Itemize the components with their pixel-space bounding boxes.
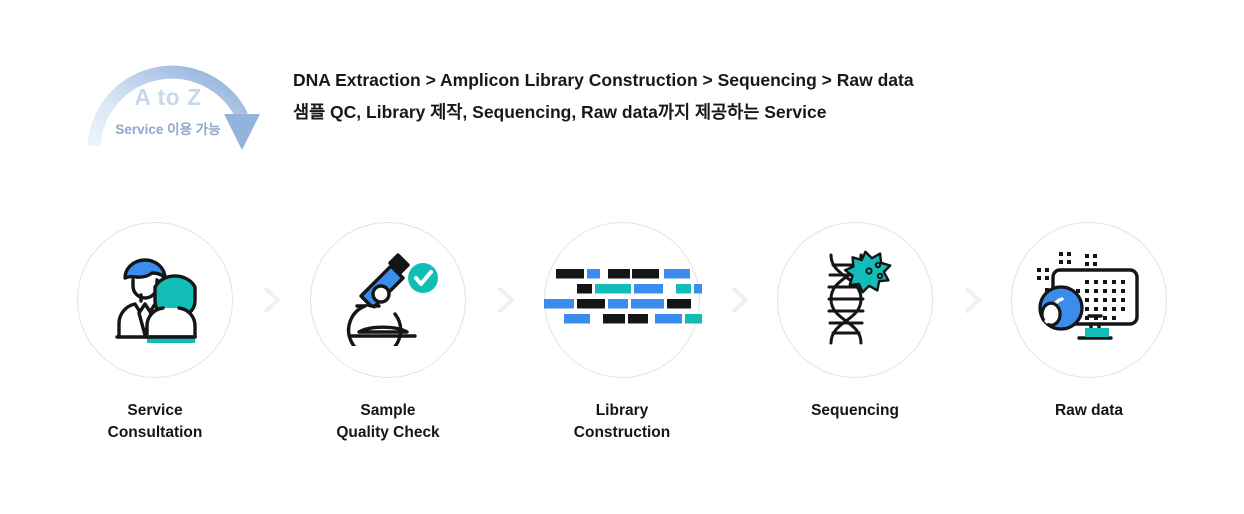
microscope-check-icon bbox=[335, 250, 441, 351]
step-circle-service-consultation[interactable] bbox=[77, 222, 233, 378]
step-label-service-consultation: Service Consultation bbox=[55, 400, 255, 444]
chevron-right-icon bbox=[723, 284, 755, 316]
step-label-sample-quality-check: Sample Quality Check bbox=[288, 400, 488, 444]
step-label-sequencing: Sequencing bbox=[755, 400, 955, 422]
sequence-reads-icon bbox=[542, 267, 702, 334]
chevron-right-icon bbox=[255, 284, 287, 316]
chevron-right-icon bbox=[956, 284, 988, 316]
chevron-right-icon bbox=[489, 284, 521, 316]
step-circle-raw-data[interactable] bbox=[1011, 222, 1167, 378]
a-to-z-title: A to Z bbox=[84, 84, 252, 111]
dna-helix-microbe-icon bbox=[807, 245, 903, 356]
step-sequencing[interactable]: Sequencing bbox=[755, 222, 955, 422]
step-service-consultation[interactable]: Service Consultation bbox=[55, 222, 255, 444]
header-description: DNA Extraction > Amplicon Library Constr… bbox=[293, 64, 993, 128]
monitor-magnifier-data-icon bbox=[1029, 246, 1149, 355]
a-to-z-subtitle: Service 이용 가능 bbox=[84, 118, 252, 138]
step-circle-library-construction[interactable] bbox=[544, 222, 700, 378]
step-raw-data[interactable]: Raw data bbox=[989, 222, 1189, 422]
step-label-raw-data: Raw data bbox=[989, 400, 1189, 422]
step-circle-sample-quality-check[interactable] bbox=[310, 222, 466, 378]
step-circle-sequencing[interactable] bbox=[777, 222, 933, 378]
workflow-summary-line: DNA Extraction > Amplicon Library Constr… bbox=[293, 64, 993, 96]
two-people-consultation-icon bbox=[103, 251, 207, 350]
step-library-construction[interactable]: Library Construction bbox=[522, 222, 722, 444]
workflow-steps: Service Consultation Sample Quality Chec… bbox=[0, 222, 1244, 452]
service-summary-line: 샘플 QC, Library 제작, Sequencing, Raw data까… bbox=[293, 96, 993, 128]
step-label-library-construction: Library Construction bbox=[522, 400, 722, 444]
a-to-z-badge: A to Z Service 이용 가능 bbox=[84, 34, 284, 166]
step-sample-quality-check[interactable]: Sample Quality Check bbox=[288, 222, 488, 444]
